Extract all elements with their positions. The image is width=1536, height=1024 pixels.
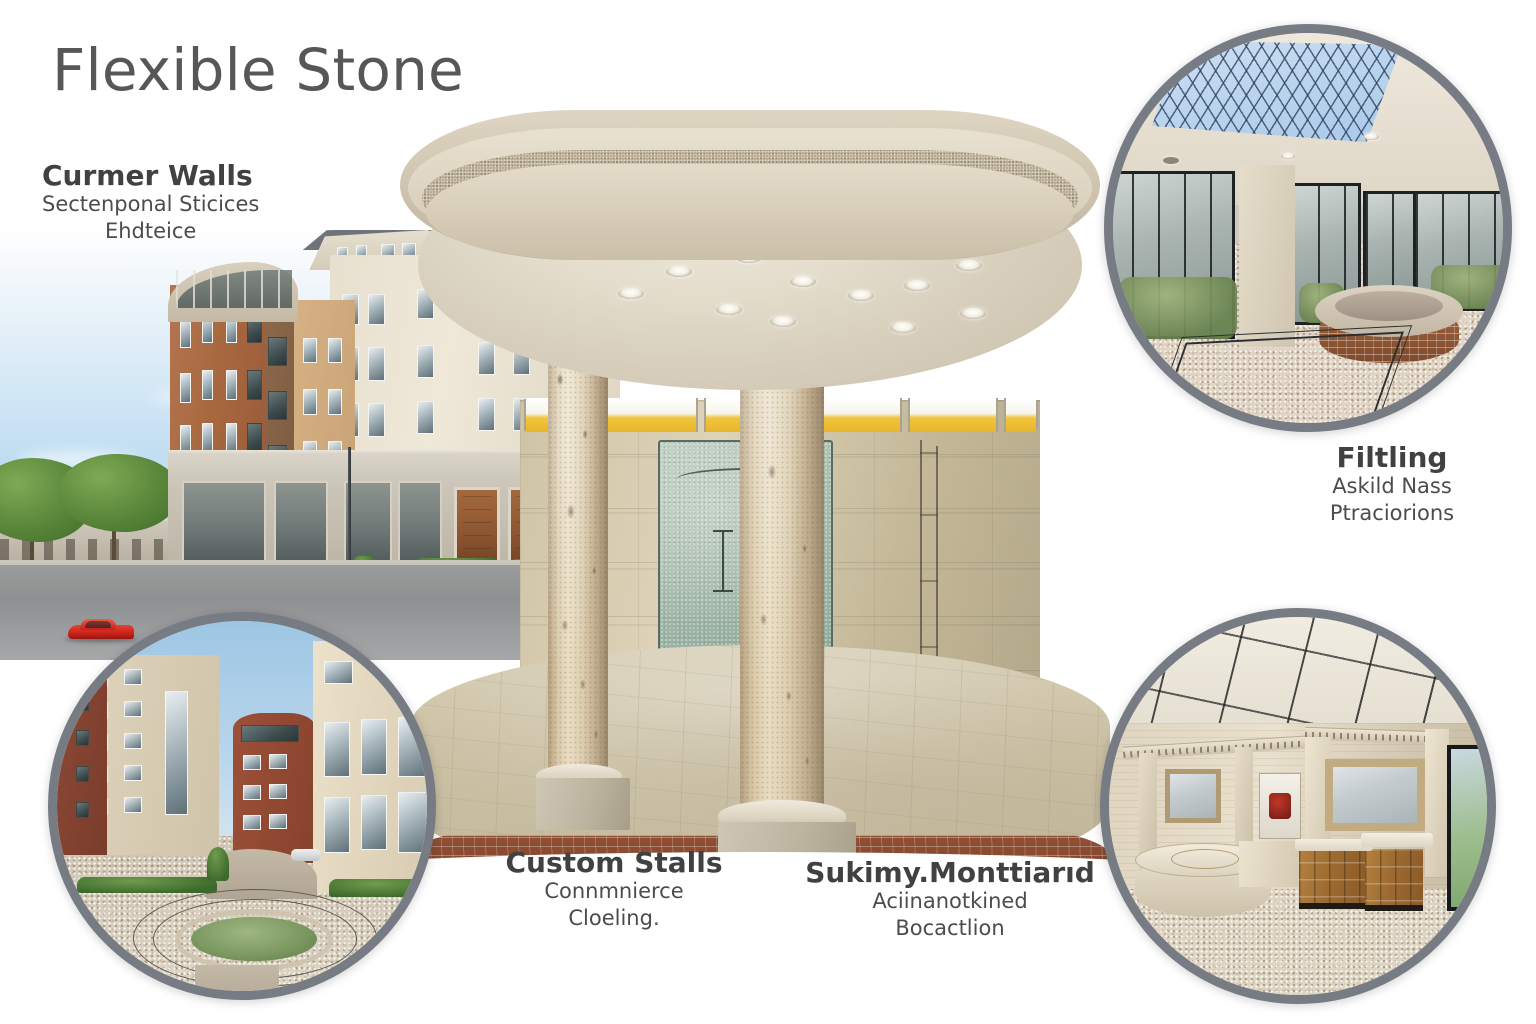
tower-glass-band	[176, 270, 292, 308]
downlight	[1281, 153, 1295, 159]
oval-inlay	[1171, 849, 1239, 869]
planted-center	[191, 917, 317, 961]
red-artwork	[1269, 793, 1291, 819]
exterior-window	[1447, 745, 1487, 911]
reception-cabinet-left	[1299, 845, 1369, 909]
label-subline-2: Bocactlion	[790, 915, 1110, 942]
reception-cabinet-right	[1365, 849, 1423, 911]
skylight-grid	[1152, 41, 1402, 142]
handrail-bracket	[920, 580, 938, 582]
label-heading: Custom Stalls	[488, 847, 740, 878]
handrail-bracket	[920, 452, 938, 454]
lamp-post	[348, 447, 351, 565]
framed-artwork-large	[1325, 759, 1425, 831]
pier	[1239, 165, 1295, 347]
label-subline-1: Aciinanotkined	[790, 888, 1110, 915]
courtyard-building-right	[313, 641, 427, 893]
hedge	[329, 879, 427, 897]
courtyard-building-brick	[57, 677, 107, 855]
shopfront	[182, 481, 266, 565]
pilaster	[1425, 729, 1449, 877]
poster-canvas: Flexible Stone Curmer Walls Sectenponal …	[0, 0, 1536, 1024]
label-subline-2: Cloeling.	[488, 905, 740, 932]
label-custom-stalls: Custom Stalls Connmnierce Cloeling.	[488, 847, 740, 932]
label-subline-2: Ehdteice	[42, 218, 259, 245]
label-subline-1: Sectenponal Sticices	[42, 191, 259, 218]
inset-courtyard-plaza	[48, 612, 436, 1000]
rotunda-canopy	[400, 110, 1100, 410]
label-filtling: Filtling Askild Nass Ptraciorions	[1262, 442, 1522, 527]
handrail-bracket	[920, 514, 938, 516]
column-pedestal-left	[536, 778, 630, 830]
tree	[58, 454, 180, 532]
planter-well	[1335, 291, 1443, 321]
ceiling-projector	[1163, 157, 1179, 164]
floor-inlay	[1152, 331, 1404, 423]
planting	[1119, 277, 1237, 339]
counter-top-right	[1361, 833, 1433, 847]
steps	[195, 965, 279, 991]
courtyard-tower	[233, 713, 315, 863]
shopfront	[274, 481, 328, 565]
label-subline-2: Ptraciorions	[1262, 500, 1522, 527]
shopfront	[344, 481, 392, 565]
label-subline-1: Askild Nass	[1262, 473, 1522, 500]
inset-atrium-skylight	[1104, 24, 1512, 432]
label-curmer-walls: Curmer Walls Sectenponal Sticices Ehdtei…	[42, 160, 259, 245]
parked-car	[291, 849, 321, 861]
label-heading: Filtling	[1262, 442, 1522, 473]
seat-ledge	[1239, 841, 1301, 887]
canopy-moulding-lower	[426, 164, 1074, 260]
label-heading: Sukimy.Monttiarıd	[790, 857, 1110, 888]
hero-rotunda-image	[400, 110, 1120, 850]
label-sukimy-monttiarid: Sukimy.Monttiarıd Aciinanotkined Bocactl…	[790, 857, 1110, 942]
framed-artwork	[1165, 769, 1221, 823]
downlight	[1363, 133, 1379, 140]
handrail	[920, 440, 922, 680]
label-heading: Curmer Walls	[42, 160, 259, 191]
hedge	[77, 877, 217, 893]
label-subline-1: Connmnierce	[488, 878, 740, 905]
inset-travertine-lobby	[1100, 608, 1496, 1004]
shrub	[207, 847, 229, 881]
page-title: Flexible Stone	[52, 36, 464, 104]
